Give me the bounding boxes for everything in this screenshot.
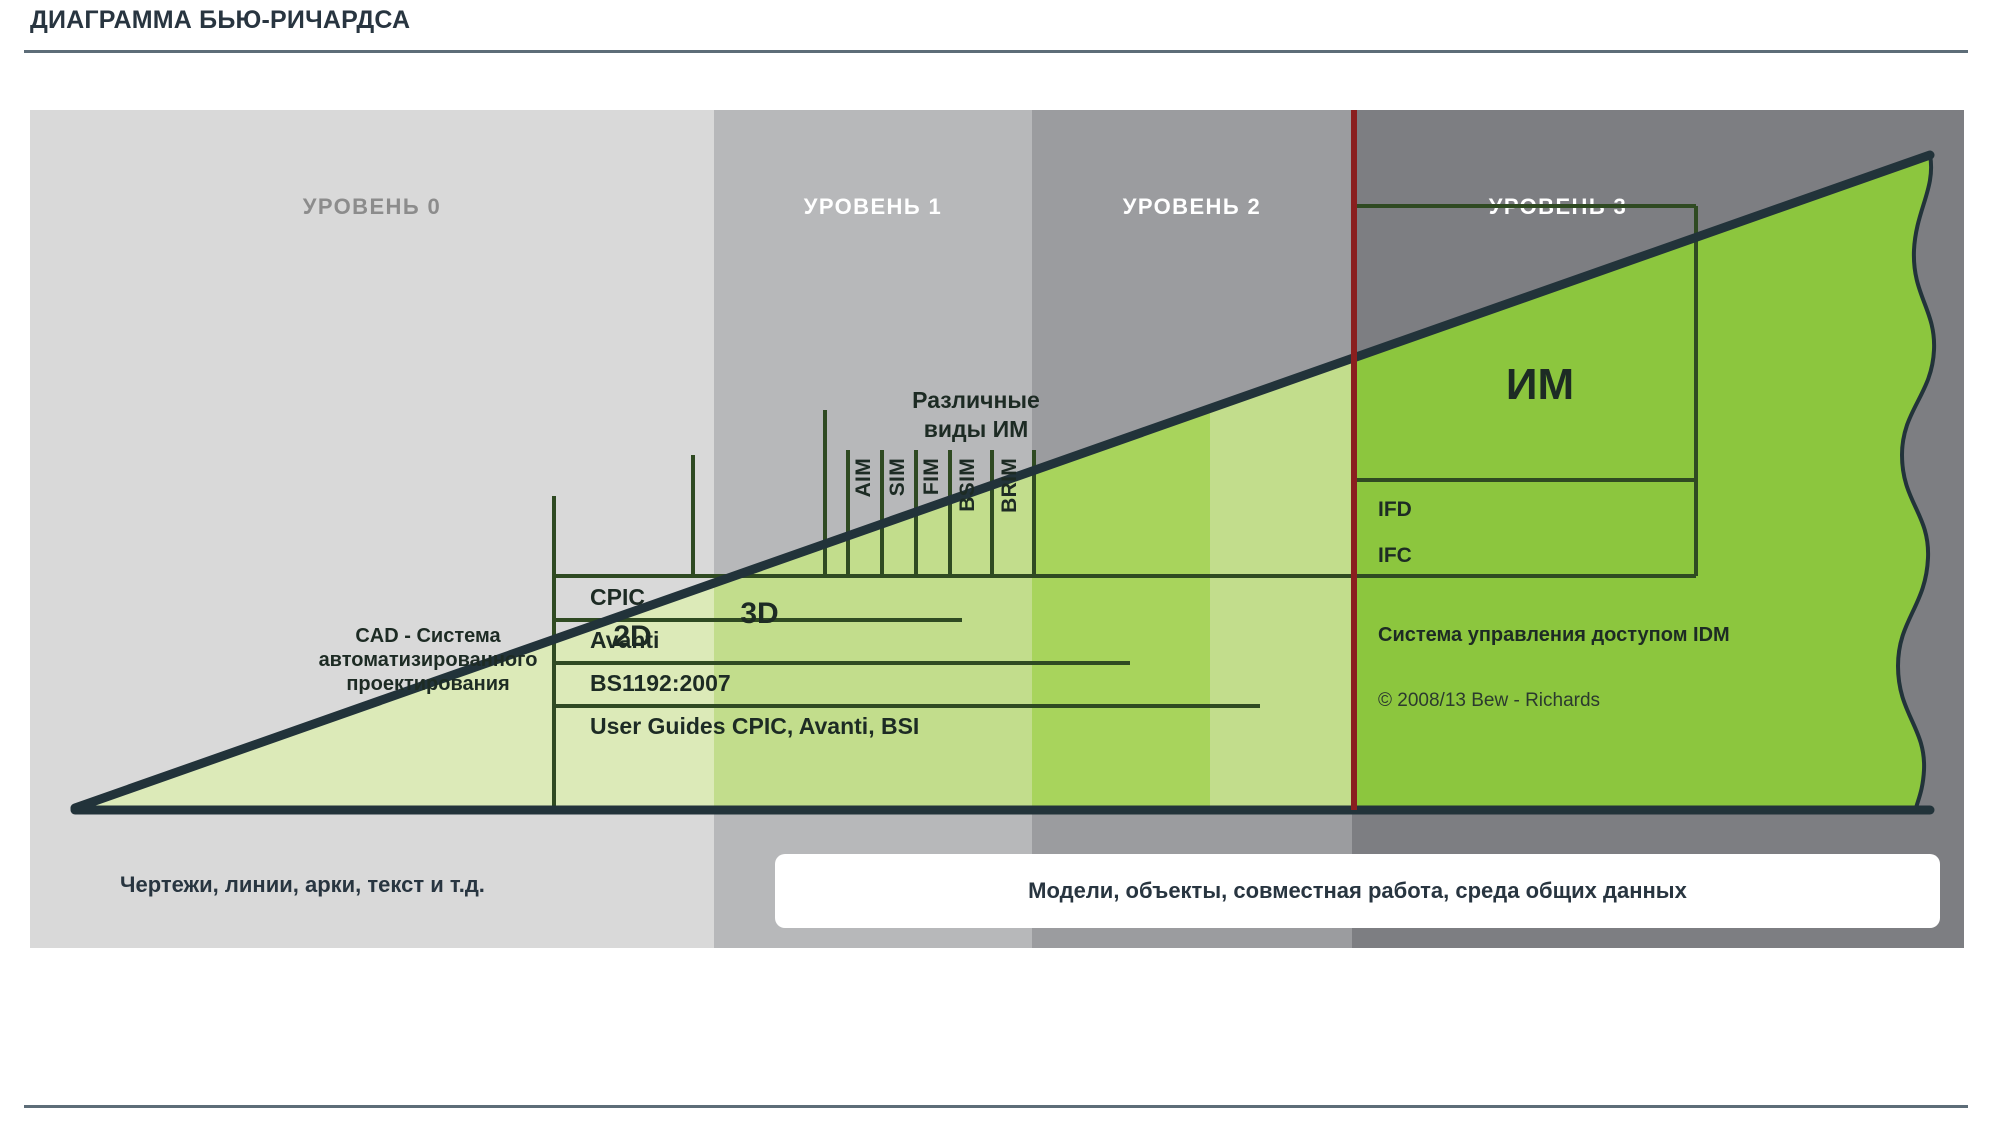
cad-line-2: автоматизированного xyxy=(278,648,578,672)
standards-row-avanti: Avanti xyxy=(590,627,659,654)
cad-line-3: проектирования xyxy=(278,672,578,696)
bew-richards-diagram-page: ДИАГРАММА БЬЮ-РИЧАРДСА УРОВЕНЬ 0 УРОВЕНЬ… xyxy=(0,0,1996,1133)
diagram-stage: УРОВЕНЬ 0 УРОВЕНЬ 1 УРОВЕНЬ 2 УРОВЕНЬ 3 xyxy=(30,110,1964,838)
cad-description: CAD - Система автоматизированного проект… xyxy=(278,624,578,696)
level3-main-label: ИМ xyxy=(1390,360,1690,410)
box-label-3d: 3D xyxy=(702,597,817,631)
standard-label-ifd: IFD xyxy=(1378,498,1412,522)
footer-right-callout: Модели, объекты, совместная работа, сред… xyxy=(775,854,1940,928)
level3-red-divider xyxy=(1351,110,1357,810)
various-models-line-1: Различные xyxy=(876,386,1076,415)
model-type-brim: BRIM xyxy=(998,458,1022,513)
model-type-aim: AIM xyxy=(852,458,876,497)
maturity-triangle-graphic xyxy=(30,110,1964,838)
model-type-fim: FIM xyxy=(920,458,944,495)
standards-row-bs1192: BS1192:2007 xyxy=(590,670,731,697)
page-title: ДИАГРАММА БЬЮ-РИЧАРДСА xyxy=(30,6,410,35)
diagram-footer: Чертежи, линии, арки, текст и т.д. Модел… xyxy=(30,838,1964,948)
bottom-divider-rule xyxy=(24,1105,1968,1108)
copyright-notice: © 2008/13 Bew - Richards xyxy=(1378,690,1600,712)
various-models-title: Различные виды ИМ xyxy=(876,386,1076,444)
various-models-line-2: виды ИМ xyxy=(876,415,1076,444)
footer-left-caption: Чертежи, линии, арки, текст и т.д. xyxy=(120,872,680,898)
title-divider-rule xyxy=(24,50,1968,53)
standards-row-user-guides: User Guides CPIC, Avanti, BSI xyxy=(590,713,919,740)
cad-line-1: CAD - Система xyxy=(278,624,578,648)
idm-label: Система управления доступом IDM xyxy=(1378,624,1730,647)
standards-row-cpic: CPIC xyxy=(590,584,645,611)
footer-right-caption: Модели, объекты, совместная работа, сред… xyxy=(1028,878,1687,904)
model-type-sim: SIM xyxy=(886,458,910,496)
model-type-bsim: BSIM xyxy=(956,458,980,512)
standard-label-ifc: IFC xyxy=(1378,544,1412,568)
